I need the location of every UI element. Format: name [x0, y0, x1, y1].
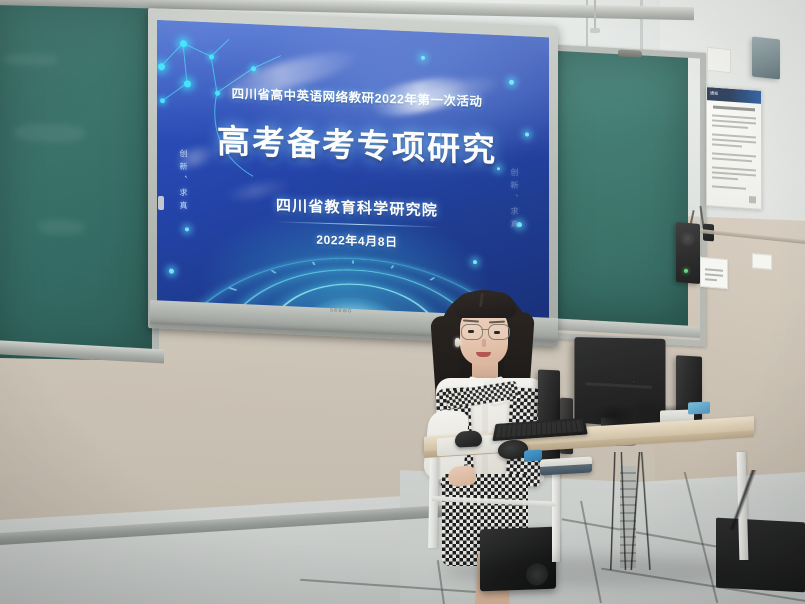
earring [455, 338, 460, 347]
network-switch-box[interactable] [540, 456, 592, 475]
chalkboard-left [0, 0, 159, 361]
wall-paper-note [700, 257, 728, 289]
poster-text-line [712, 143, 742, 147]
eyeglass-bridge [481, 329, 489, 330]
display-side-button[interactable] [158, 196, 164, 210]
chalkboard-eraser[interactable] [618, 49, 642, 57]
wall-poster-notice: 通知 [706, 86, 762, 210]
poster-stamp [749, 196, 756, 203]
desk-shadow [440, 556, 740, 586]
poster-text-line [712, 171, 756, 176]
poster-text-line [712, 185, 746, 189]
poster-text-line [712, 114, 756, 119]
nose [482, 339, 486, 347]
floor-cable [700, 470, 805, 530]
wall-mounted-speaker [676, 222, 700, 284]
note-text-line [705, 278, 717, 281]
poster-text-line [712, 166, 756, 171]
speaker-cone [680, 230, 695, 246]
computer-mouse[interactable] [455, 430, 482, 447]
poster-text-line [712, 133, 756, 138]
classroom-photo-scene: 四川省高中英语网络教研2022年第一次活动 高考备考专项研究 四川省教育科学研究… [0, 0, 805, 604]
blue-accessory[interactable] [524, 450, 542, 462]
wall-paper-upper [707, 47, 731, 74]
poster-title-line [713, 105, 755, 111]
slide-vertical-text-right: 创新、求真 [509, 168, 520, 233]
poster-header-label: 通知 [710, 90, 719, 97]
poster-text-line [712, 138, 756, 143]
keyboard-keys[interactable] [496, 420, 584, 437]
eye-right [494, 331, 500, 334]
note-text-line [705, 273, 723, 276]
poster-header-band: 通知 [707, 87, 761, 104]
wall-paper-note-small [752, 253, 772, 270]
ceiling-hanging-wire [594, 0, 596, 30]
monitor-vent [586, 382, 653, 389]
slide-date: 2022年4月8日 [197, 227, 517, 254]
hair-fringe [454, 292, 516, 318]
wall-mounted-device [752, 37, 780, 80]
desk-device-blue[interactable] [688, 402, 710, 415]
cable-bundle [608, 452, 652, 570]
eye-left [468, 330, 474, 333]
monitor-mount-screw [608, 377, 612, 381]
note-text-line [705, 268, 723, 271]
desk-leg [552, 462, 560, 562]
poster-text-line [712, 124, 748, 129]
poster-text-line [712, 152, 756, 157]
poster-text-line [712, 119, 756, 124]
monitor-mount-screw [632, 380, 636, 384]
speaker-power-led [684, 269, 688, 273]
slide-main-title: 高考备考专项研究 [185, 113, 530, 172]
display-brand-label: seewo [330, 308, 352, 315]
poster-text-line [712, 176, 738, 180]
slide-divider [275, 221, 441, 227]
ceiling-hanging-fixture [590, 28, 600, 33]
poster-text-line [712, 157, 752, 162]
